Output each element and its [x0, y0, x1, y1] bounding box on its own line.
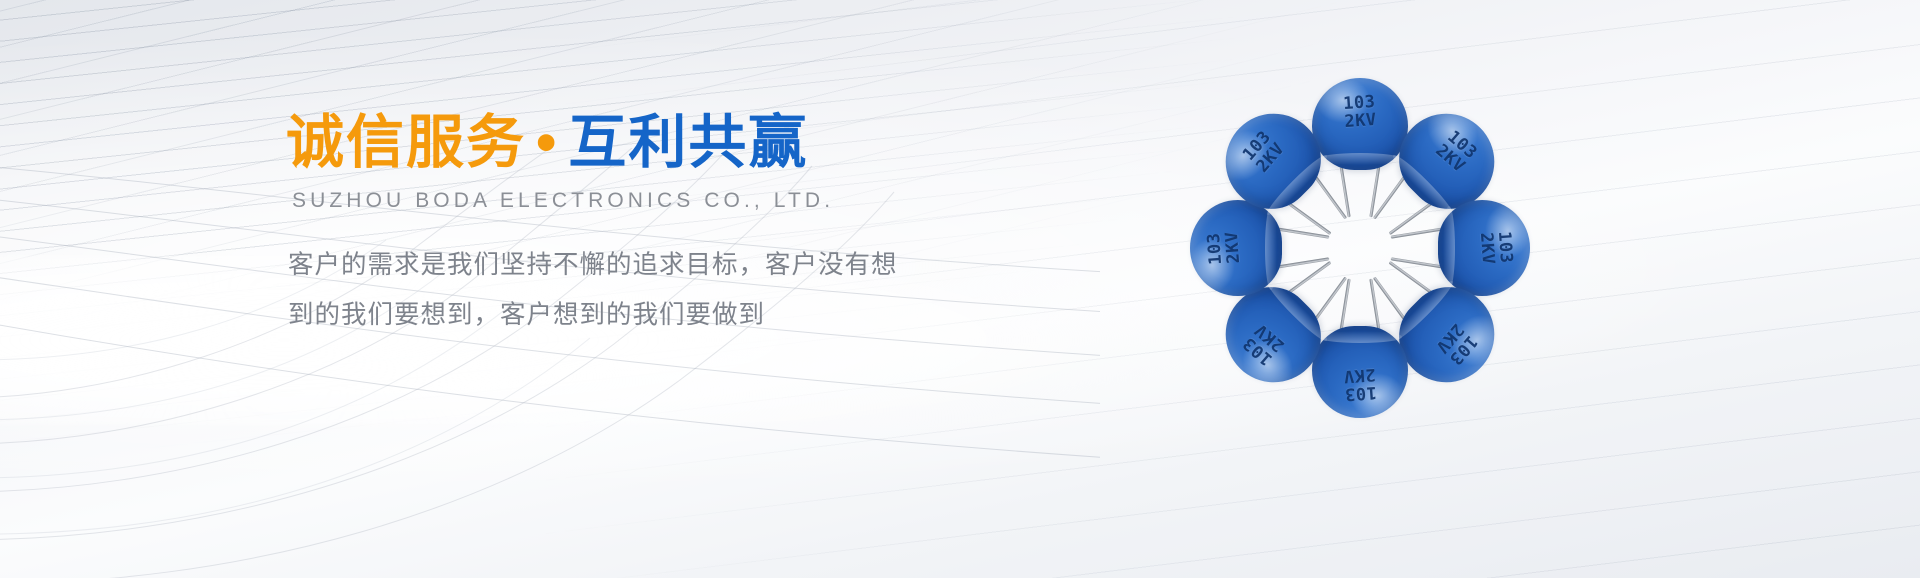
capacitor-marking: 1032KV — [1474, 199, 1517, 297]
capacitor-product-cluster: 1032KV1032KV1032KV1032KV1032KV1032KV1032… — [1160, 48, 1560, 448]
description-line-2: 到的我们要想到，客户想到的我们要做到 — [288, 291, 928, 341]
headline-part-blue: 互利共赢 — [568, 110, 808, 175]
headline-part-orange: 诚信服务 — [286, 110, 526, 175]
capacitor-marking: 1032KV — [1219, 104, 1310, 201]
capacitor-marking: 1032KV — [1311, 91, 1409, 134]
capacitor-marking: 1032KV — [1311, 362, 1409, 405]
page-title: 诚信服务•互利共赢 — [286, 112, 946, 173]
banner-copy: 诚信服务•互利共赢 SUZHOU BODA ELECTRONICS CO., L… — [286, 112, 946, 341]
banner-description: 客户的需求是我们坚持不懈的追求目标，客户没有想 到的我们要想到，客户想到的我们要… — [288, 241, 928, 340]
capacitor-marking: 1032KV — [1408, 107, 1505, 198]
hero-banner: 诚信服务•互利共赢 SUZHOU BODA ELECTRONICS CO., L… — [0, 0, 1920, 578]
capacitor-marking: 1032KV — [1216, 299, 1313, 390]
capacitor-marking: 1032KV — [1411, 296, 1502, 393]
capacitor-marking: 1032KV — [1203, 199, 1246, 297]
company-name-en: SUZHOU BODA ELECTRONICS CO., LTD. — [292, 189, 946, 213]
description-line-1: 客户的需求是我们坚持不懈的追求目标，客户没有想 — [288, 241, 928, 291]
headline-separator-dot: • — [526, 110, 568, 175]
